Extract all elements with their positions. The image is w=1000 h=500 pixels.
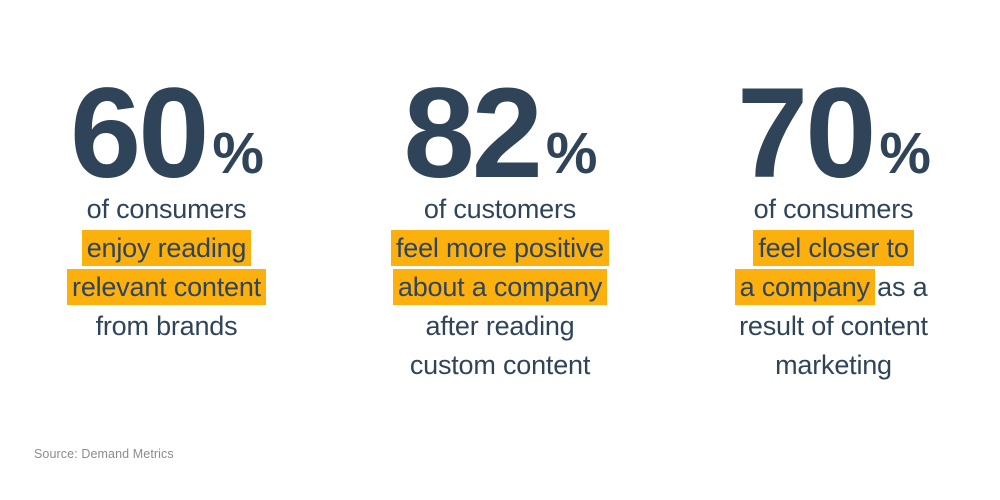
- stat-number-3: 70: [737, 62, 873, 205]
- copy-line: a company as a: [739, 268, 928, 307]
- copy-segment-highlighted: feel closer to: [758, 230, 908, 266]
- copy-line: from brands: [72, 307, 261, 346]
- copy-segment: as a: [870, 271, 928, 303]
- infographic-canvas: 60% of consumers enjoy reading relevant …: [0, 0, 1000, 500]
- copy-line: of customers: [396, 190, 604, 229]
- copy-line: result of content: [739, 307, 928, 346]
- copy-segment-highlighted: a company: [740, 269, 870, 305]
- percent-symbol-3: %: [879, 121, 930, 186]
- stat-number-2: 82: [404, 62, 540, 205]
- stat-figure-2: 82%: [404, 70, 597, 190]
- stat-description-1: of consumers enjoy reading relevant cont…: [72, 190, 261, 346]
- stat-figure-3: 70%: [737, 70, 930, 190]
- statistics-row: 60% of consumers enjoy reading relevant …: [0, 0, 1000, 440]
- copy-line: of consumers: [72, 190, 261, 229]
- copy-segment: result of content: [739, 310, 928, 342]
- copy-segment: of consumers: [87, 193, 247, 225]
- copy-line: marketing: [739, 346, 928, 385]
- copy-line: custom content: [396, 346, 604, 385]
- copy-line: enjoy reading: [72, 229, 261, 268]
- copy-segment: of customers: [424, 193, 576, 225]
- source-attribution: Source: Demand Metrics: [34, 447, 174, 461]
- copy-segment: after reading: [426, 310, 575, 342]
- copy-line: after reading: [396, 307, 604, 346]
- copy-segment-highlighted: enjoy reading: [87, 230, 247, 266]
- stat-number-1: 60: [70, 62, 206, 205]
- percent-symbol-1: %: [212, 121, 263, 186]
- copy-line: feel closer to: [739, 229, 928, 268]
- stat-column-2: 82% of customers feel more positive abou…: [334, 0, 667, 385]
- copy-line: of consumers: [739, 190, 928, 229]
- stat-figure-1: 60%: [70, 70, 263, 190]
- copy-segment-highlighted: about a company: [398, 269, 602, 305]
- copy-line: feel more positive: [396, 229, 604, 268]
- copy-line: about a company: [396, 268, 604, 307]
- stat-column-1: 60% of consumers enjoy reading relevant …: [0, 0, 333, 346]
- stat-column-3: 70% of consumers feel closer to a compan…: [667, 0, 1000, 385]
- copy-segment: from brands: [96, 310, 238, 342]
- copy-segment: custom content: [410, 349, 590, 381]
- stat-description-2: of customers feel more positive about a …: [396, 190, 604, 385]
- copy-segment: marketing: [775, 349, 892, 381]
- percent-symbol-2: %: [546, 121, 597, 186]
- copy-segment-highlighted: feel more positive: [396, 230, 604, 266]
- stat-description-3: of consumers feel closer to a company as…: [739, 190, 928, 385]
- copy-segment-highlighted: relevant content: [72, 269, 261, 305]
- copy-segment: of consumers: [754, 193, 914, 225]
- copy-line: relevant content: [72, 268, 261, 307]
